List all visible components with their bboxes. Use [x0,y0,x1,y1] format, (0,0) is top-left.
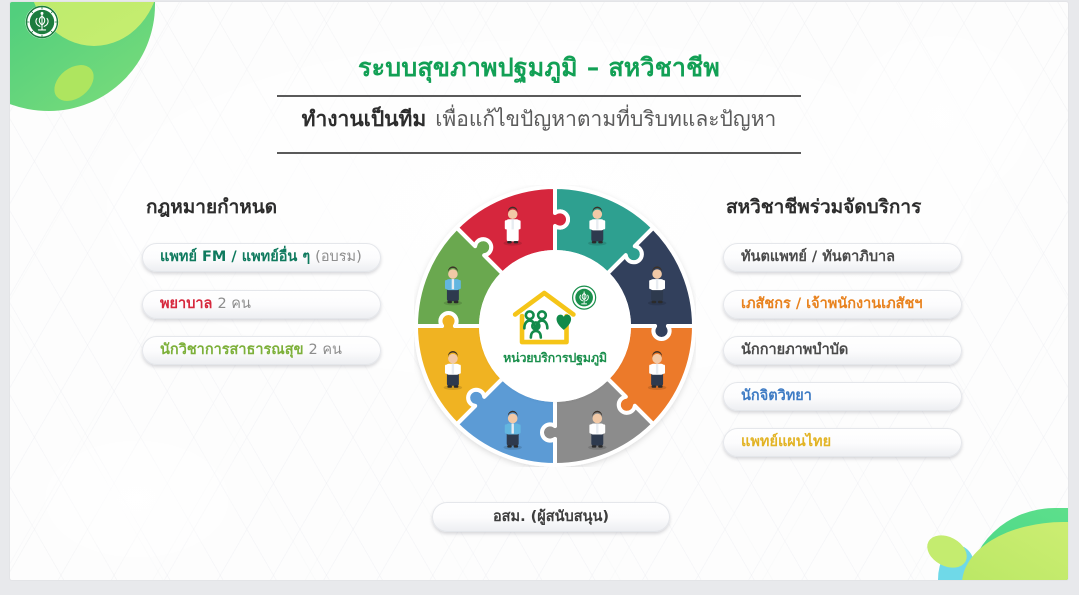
wheel-center-label: หน่วยบริการปฐมภูมิ [503,348,607,368]
subtitle-light: เพื่อแก้ไขปัญหาตามที่บริบทและปัญหา [435,106,776,133]
right-pill-thai-medicine-label: แพทย์แผนไทย [741,435,831,450]
decoration-dot-bottom-right [922,529,973,574]
moph-logo-icon [24,4,60,40]
right-pill-pharmacist-label: เภสัชกร / เจ้าพนักงานเภสัชฯ [741,297,923,312]
left-pill-doctor-label: แพทย์ FM / แพทย์อื่น ๆ [160,250,310,265]
heart-icon [557,314,572,329]
right-pill-physiotherapist-label: นักกายภาพบำบัด [741,343,848,358]
puzzle-wheel-diagram: หน่วยบริการปฐมภูมิ [414,185,696,467]
divider-bottom [277,152,801,154]
bottom-pill-volunteer-label: อสม. (ผู้สนับสนุน) [493,510,609,525]
decoration-blob-bottom-right-cyan [938,546,976,580]
right-pill-dentist[interactable]: ทันตแพทย์ / ทันตาภิบาล [723,243,962,272]
header-block: ระบบสุขภาพปฐมภูมิ – สหวิชาชีพ ทำงานเป็นท… [10,52,1068,154]
right-pill-psychologist[interactable]: นักจิตวิทยา [723,382,962,411]
right-pill-psychologist-label: นักจิตวิทยา [741,389,812,404]
left-pill-health-officer[interactable]: นักวิชาการสาธารณสุข 2 คน [142,336,381,365]
house-icon [509,285,601,347]
right-pill-dentist-label: ทันตแพทย์ / ทันตาภิบาล [741,250,895,265]
subtitle-strong: ทำงานเป็นทีม [302,106,427,133]
left-pill-nurse[interactable]: พยาบาล 2 คน [142,290,381,319]
right-pill-physiotherapist[interactable]: นักกายภาพบำบัด [723,336,962,365]
left-column-heading: กฎหมายกำหนด [146,192,277,222]
left-pill-health-officer-label: นักวิชาการสาธารณสุข [160,343,304,358]
bottom-pill-volunteer[interactable]: อสม. (ผู้สนับสนุน) [432,502,670,532]
decoration-blob-bottom-right-lime [962,522,1068,580]
decoration-blob-bottom-right-green [968,508,1068,580]
left-pill-nurse-suffix: 2 คน [217,297,250,312]
slide-canvas: ระบบสุขภาพปฐมภูมิ – สหวิชาชีพ ทำงานเป็นท… [10,2,1068,580]
moph-logo-icon [573,286,596,309]
wheel-center-badge: หน่วยบริการปฐมภูมิ [483,254,627,398]
left-pill-nurse-label: พยาบาล [160,297,212,312]
right-pill-pharmacist[interactable]: เภสัชกร / เจ้าพนักงานเภสัชฯ [723,290,962,319]
subtitle-row: ทำงานเป็นทีม เพื่อแก้ไขปัญหาตามที่บริบทแ… [10,97,1068,139]
left-pill-health-officer-suffix: 2 คน [309,343,342,358]
right-column-heading: สหวิชาชีพร่วมจัดบริการ [726,192,921,222]
page-title: ระบบสุขภาพปฐมภูมิ – สหวิชาชีพ [10,52,1068,83]
right-pill-thai-medicine[interactable]: แพทย์แผนไทย [723,428,962,457]
left-pill-doctor-suffix: (อบรม) [315,250,362,265]
left-pill-doctor[interactable]: แพทย์ FM / แพทย์อื่น ๆ (อบรม) [142,243,381,272]
family-icon [524,311,547,337]
